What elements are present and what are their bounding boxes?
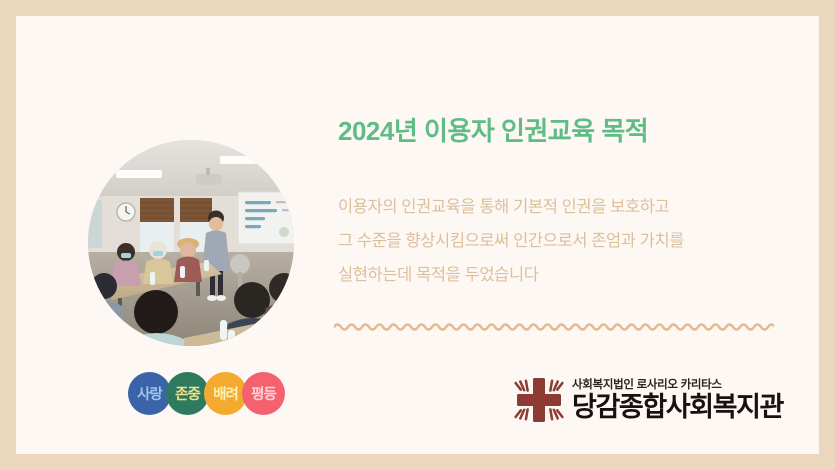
slide-frame: 2024년 이용자 인권교육 목적 이용자의 인권교육을 통해 기본적 인권을 … — [0, 0, 835, 470]
value-badge-love-label: 사랑 — [137, 383, 162, 404]
caritas-cross-glyph — [513, 376, 565, 424]
slide-card: 2024년 이용자 인권교육 목적 이용자의 인권교육을 통해 기본적 인권을 … — [16, 16, 819, 454]
caritas-cross-icon — [513, 376, 565, 424]
logo-name: 당감종합사회복지관 — [572, 394, 783, 421]
wavy-divider — [334, 318, 774, 334]
value-badge-equality[interactable]: 평등 — [242, 372, 285, 415]
classroom-photo-illustration — [88, 140, 294, 346]
logo-text-block: 사회복지법인 로사리오 카리타스 당감종합사회복지관 — [572, 379, 783, 422]
purpose-line-3: 실현하는데 목적을 두었습니다 — [338, 259, 808, 293]
purpose-line-1: 이용자의 인권교육을 통해 기본적 인권을 보호하고 — [338, 191, 808, 225]
value-badge-consideration-label: 배려 — [213, 383, 238, 404]
text-content: 2024년 이용자 인권교육 목적 이용자의 인권교육을 통해 기본적 인권을 … — [338, 116, 808, 293]
classroom-photo — [88, 140, 294, 346]
wave-line-icon — [334, 318, 774, 334]
core-value-badges: 사랑 존중 배려 평등 — [128, 372, 285, 415]
value-badge-respect[interactable]: 존중 — [166, 372, 209, 415]
value-badge-love[interactable]: 사랑 — [128, 372, 171, 415]
purpose-description: 이용자의 인권교육을 통해 기본적 인권을 보호하고 그 수준을 향상시킴으로써… — [338, 191, 808, 292]
value-badge-respect-label: 존중 — [175, 383, 200, 404]
value-badge-equality-label: 평등 — [251, 383, 276, 404]
organization-logo: 사회복지법인 로사리오 카리타스 당감종합사회복지관 — [513, 376, 783, 424]
logo-subtitle: 사회복지법인 로사리오 카리타스 — [572, 379, 783, 392]
purpose-line-2: 그 수준을 향상시킴으로써 인간으로서 존엄과 가치를 — [338, 225, 808, 259]
value-badge-consideration[interactable]: 배려 — [204, 372, 247, 415]
page-title: 2024년 이용자 인권교육 목적 — [338, 116, 808, 147]
